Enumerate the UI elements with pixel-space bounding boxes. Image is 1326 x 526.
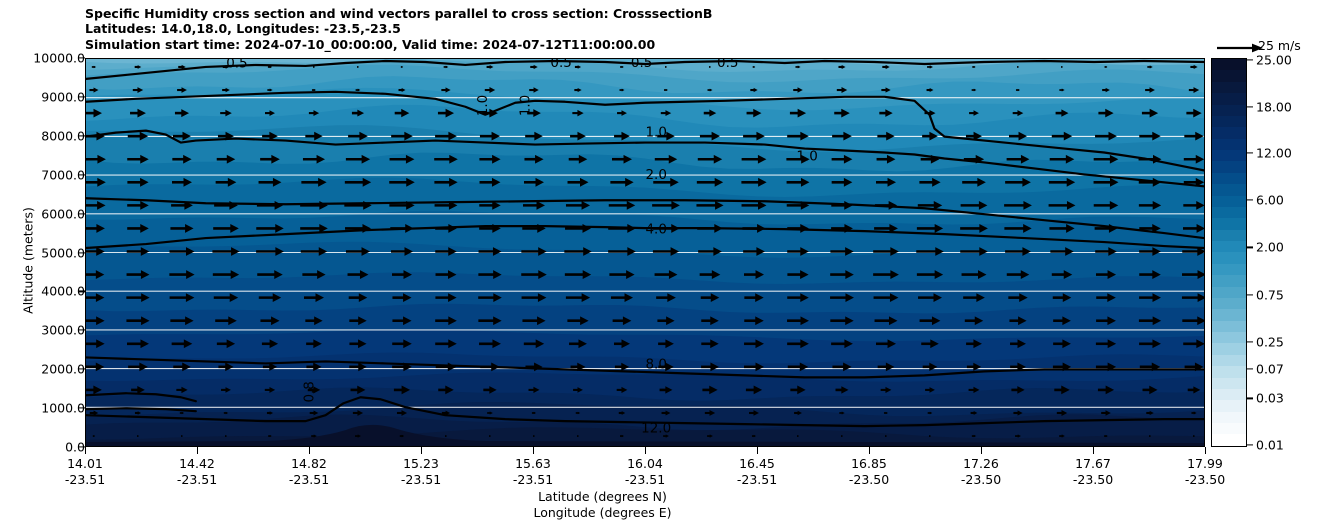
x-tick-label: 14.01-23.51 <box>65 456 105 488</box>
colorbar-band <box>1212 332 1246 343</box>
colorbar-band <box>1212 366 1246 377</box>
x-tick-longitude: -23.50 <box>849 472 889 488</box>
colorbar-band <box>1212 218 1246 229</box>
colorbar-tick-mark <box>1247 247 1253 248</box>
x-tick-mark <box>309 447 310 454</box>
y-tick-mark <box>78 446 85 447</box>
x-tick-latitude: 15.63 <box>513 456 553 472</box>
x-tick-label: 14.42-23.51 <box>177 456 217 488</box>
colorbar-tick-label: 18.00 <box>1256 99 1292 114</box>
y-tick-mark <box>78 330 85 331</box>
contour-label: 12.0 <box>637 420 676 438</box>
colorbar-tick-mark <box>1247 294 1253 295</box>
colorbar-band <box>1212 207 1246 218</box>
x-tick-mark <box>757 447 758 454</box>
colorbar-band <box>1212 70 1246 81</box>
x-tick-latitude: 14.42 <box>177 456 217 472</box>
colorbar-band <box>1212 127 1246 138</box>
colorbar[interactable] <box>1211 58 1247 447</box>
colorbar-band <box>1212 173 1246 184</box>
y-tick-mark <box>78 174 85 175</box>
quiver-key-label: 25 m/s <box>1258 38 1301 53</box>
x-tick-longitude: -23.51 <box>737 472 777 488</box>
x-tick-longitude: -23.51 <box>65 472 105 488</box>
x-tick-label: 17.67-23.50 <box>1073 456 1113 488</box>
x-tick-label: 17.99-23.50 <box>1185 456 1225 488</box>
colorbar-tick-mark <box>1247 106 1253 107</box>
contour-label: 0.5 <box>222 59 253 73</box>
colorbar-band <box>1212 321 1246 332</box>
colorbar-tick-mark <box>1247 341 1253 342</box>
y-tick-mark <box>78 291 85 292</box>
colorbar-tick-label: 0.03 <box>1256 391 1284 406</box>
x-tick-latitude: 16.45 <box>737 456 777 472</box>
x-tick-label: 16.85-23.50 <box>849 456 889 488</box>
contour-label: 0.8 <box>301 377 319 407</box>
colorbar-tick-mark <box>1247 369 1253 370</box>
y-tick-mark <box>78 252 85 253</box>
x-tick-mark <box>533 447 534 454</box>
x-tick-latitude: 15.23 <box>401 456 441 472</box>
colorbar-band <box>1212 400 1246 411</box>
colorbar-band <box>1212 434 1246 445</box>
colorbar-band <box>1212 287 1246 298</box>
x-tick-longitude: -23.51 <box>401 472 441 488</box>
contour-label: 0.5 <box>712 59 743 72</box>
x-tick-longitude: -23.50 <box>1073 472 1113 488</box>
colorbar-tick-label: 25.00 <box>1256 52 1292 67</box>
colorbar-band <box>1212 150 1246 161</box>
colorbar-tick-label: 2.00 <box>1256 240 1284 255</box>
colorbar-band <box>1212 241 1246 252</box>
colorbar-tick-mark <box>1247 153 1253 154</box>
x-tick-label: 16.45-23.51 <box>737 456 777 488</box>
x-tick-longitude: -23.51 <box>289 472 329 488</box>
colorbar-tick-label: 6.00 <box>1256 192 1284 207</box>
x-tick-longitude: -23.50 <box>961 472 1001 488</box>
title-line-1: Specific Humidity cross section and wind… <box>85 6 1205 21</box>
x-tick-label: 15.23-23.51 <box>401 456 441 488</box>
colorbar-band <box>1212 93 1246 104</box>
colorbar-band <box>1212 355 1246 366</box>
contour-label: 4.0 <box>641 220 672 238</box>
colorbar-band <box>1212 184 1246 195</box>
contour-label: 2.0 <box>641 166 672 184</box>
colorbar-band <box>1212 116 1246 127</box>
contour-label: 1.0 <box>792 148 823 166</box>
colorbar-tick-mark <box>1247 398 1253 399</box>
x-tick-mark <box>869 447 870 454</box>
y-tick-mark <box>78 369 85 370</box>
x-tick-mark <box>421 447 422 454</box>
svg-text:0.5: 0.5 <box>226 59 247 72</box>
colorbar-band <box>1212 139 1246 150</box>
figure: Specific Humidity cross section and wind… <box>0 0 1326 526</box>
svg-text:4.0: 4.0 <box>645 222 666 237</box>
x-tick-label: 15.63-23.51 <box>513 456 553 488</box>
x-tick-longitude: -23.51 <box>625 472 665 488</box>
x-tick-latitude: 16.85 <box>849 456 889 472</box>
title-line-2: Latitudes: 14.0,18.0, Longitudes: -23.5,… <box>85 21 1205 36</box>
colorbar-tick-mark <box>1247 444 1253 445</box>
x-tick-label: 14.82-23.51 <box>289 456 329 488</box>
svg-text:0.8: 0.8 <box>303 381 318 402</box>
x-tick-longitude: -23.51 <box>513 472 553 488</box>
contour-label: 0.5 <box>626 59 657 72</box>
colorbar-tick-label: 0.25 <box>1256 334 1284 349</box>
colorbar-band <box>1212 252 1246 263</box>
svg-text:0.5: 0.5 <box>631 59 652 71</box>
colorbar-band <box>1212 275 1246 286</box>
x-tick-label: 16.04-23.51 <box>625 456 665 488</box>
svg-text:12.0: 12.0 <box>641 422 671 437</box>
svg-text:1.0: 1.0 <box>796 150 817 165</box>
colorbar-band <box>1212 59 1246 70</box>
colorbar-tick-mark <box>1247 59 1253 60</box>
colorbar-band <box>1212 389 1246 400</box>
y-tick-mark <box>78 408 85 409</box>
y-tick-mark <box>78 213 85 214</box>
x-tick-latitude: 17.99 <box>1185 456 1225 472</box>
svg-text:0.5: 0.5 <box>717 59 738 71</box>
colorbar-tick-label: 12.00 <box>1256 146 1292 161</box>
x-axis-label-longitude: Longitude (degrees E) <box>0 505 1205 520</box>
y-axis-label: Altitude (meters) <box>21 141 36 381</box>
x-tick-longitude: -23.51 <box>177 472 217 488</box>
colorbar-band <box>1212 298 1246 309</box>
colorbar-band <box>1212 196 1246 207</box>
colorbar-band <box>1212 309 1246 320</box>
figure-title: Specific Humidity cross section and wind… <box>85 6 1205 52</box>
x-tick-latitude: 14.01 <box>65 456 105 472</box>
svg-text:1.0: 1.0 <box>476 95 491 116</box>
contour-label: 0.5 <box>546 59 577 72</box>
cross-section-plot[interactable]: 0.50.50.50.51.01.01.01.02.04.08.00.812.0 <box>85 58 1205 447</box>
svg-text:0.5: 0.5 <box>550 59 571 71</box>
svg-text:8.0: 8.0 <box>645 358 666 373</box>
svg-text:2.0: 2.0 <box>645 168 666 183</box>
y-tick-mark <box>78 135 85 136</box>
x-tick-latitude: 16.04 <box>625 456 665 472</box>
x-tick-latitude: 17.67 <box>1073 456 1113 472</box>
colorbar-band <box>1212 264 1246 275</box>
x-tick-mark <box>197 447 198 454</box>
svg-text:1.0: 1.0 <box>645 126 666 141</box>
x-tick-mark <box>1205 447 1206 454</box>
x-tick-latitude: 14.82 <box>289 456 329 472</box>
colorbar-tick-label: 0.75 <box>1256 287 1284 302</box>
title-line-3: Simulation start time: 2024-07-10_00:00:… <box>85 37 1205 52</box>
y-tick-mark <box>78 96 85 97</box>
x-tick-mark <box>1093 447 1094 454</box>
colorbar-tick-label: 0.01 <box>1256 438 1284 453</box>
colorbar-band <box>1212 412 1246 423</box>
y-tick-mark <box>78 57 85 58</box>
x-tick-mark <box>645 447 646 454</box>
x-tick-mark <box>85 447 86 454</box>
x-tick-mark <box>981 447 982 454</box>
x-axis-label-latitude: Latitude (degrees N) <box>0 489 1205 504</box>
contour-label: 1.0 <box>474 90 492 120</box>
svg-text:1.0: 1.0 <box>518 95 533 116</box>
contour-label: 1.0 <box>516 90 534 120</box>
colorbar-band <box>1212 343 1246 354</box>
colorbar-tick-mark <box>1247 199 1253 200</box>
colorbar-band <box>1212 105 1246 116</box>
x-tick-longitude: -23.50 <box>1185 472 1225 488</box>
colorbar-tick-label: 0.07 <box>1256 362 1284 377</box>
colorbar-band <box>1212 378 1246 389</box>
x-tick-label: 17.26-23.50 <box>961 456 1001 488</box>
colorbar-band <box>1212 82 1246 93</box>
colorbar-band <box>1212 161 1246 172</box>
contour-label: 8.0 <box>641 356 672 374</box>
plot-canvas: 0.50.50.50.51.01.01.01.02.04.08.00.812.0 <box>86 59 1204 446</box>
colorbar-band <box>1212 230 1246 241</box>
x-tick-latitude: 17.26 <box>961 456 1001 472</box>
contour-label: 1.0 <box>641 124 672 142</box>
colorbar-band <box>1212 423 1246 434</box>
